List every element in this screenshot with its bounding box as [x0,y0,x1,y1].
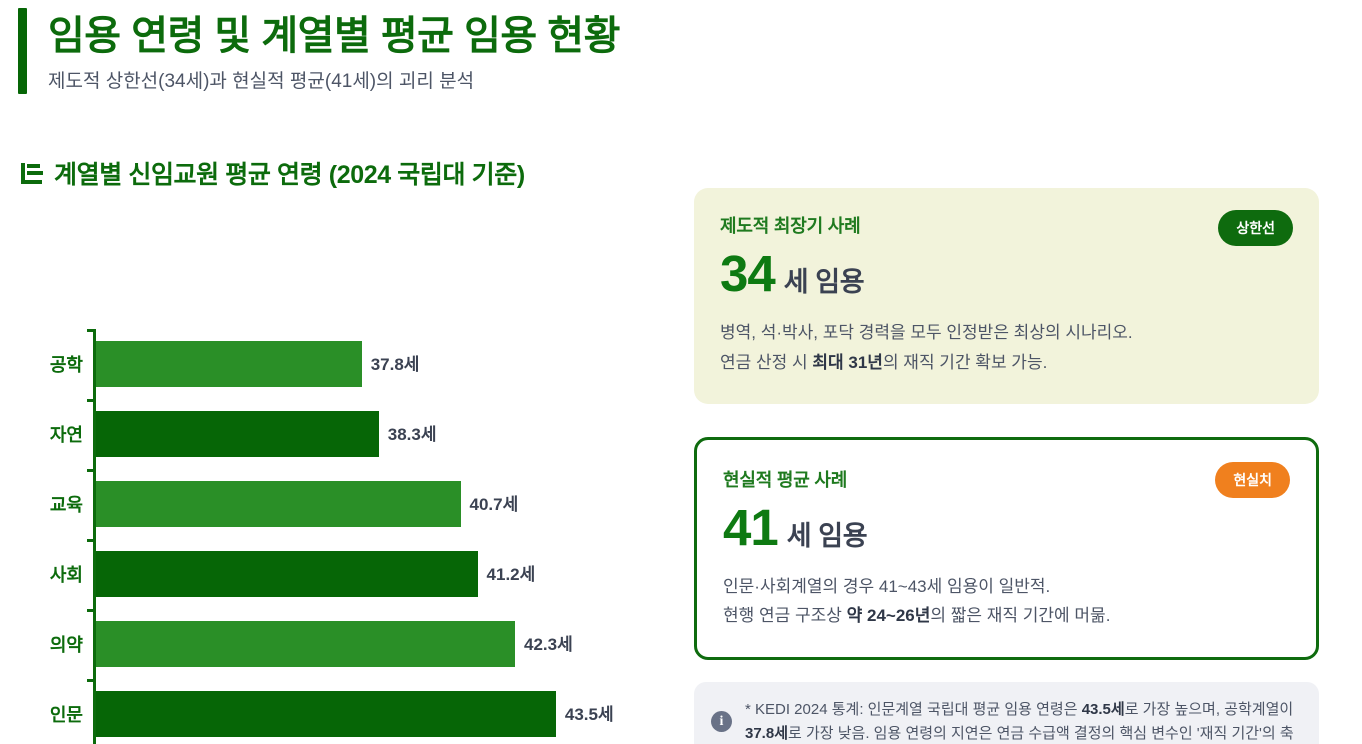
title-accent-bar [18,8,27,94]
card-realistic-average: 현실적 평균 사례 현실치 41 세 임용 인문·사회계열의 경우 41~43세… [694,437,1319,661]
footnote-bold-2: 37.8세 [745,725,788,742]
chart-heading-label: 계열별 신임교원 평균 연령 (2024 국립대 기준) [54,155,525,191]
footnote-bold-1: 43.5세 [1082,701,1125,718]
bar-category-label: 교육 [20,491,83,517]
y-axis-tick [87,679,96,682]
card-label: 제도적 최장기 사례 [720,212,1293,238]
footnote-part-3: 로 가장 낮음. 임용 연령의 지연은 연금 수급액 결정의 핵심 변수인 '재… [745,725,1294,744]
card-line-2-post: 의 짧은 재직 기간에 머묾. [930,606,1110,625]
bar-value-label: 40.7세 [470,490,519,515]
card-line-2-bold: 최대 31년 [812,353,883,372]
status-badge-reality[interactable]: 현실치 [1215,462,1290,498]
bar-category-label: 인문 [20,701,83,727]
y-axis-tick [87,539,96,542]
card-number: 41 [723,500,778,555]
bar-row: 자연38.3세 [20,399,660,469]
bar-category-label: 자연 [20,421,83,447]
card-unit: 세 임용 [784,260,864,299]
card-line-2-pre: 연금 산정 시 [720,353,812,372]
bar-fill[interactable] [96,551,478,597]
card-label: 현실적 평균 사례 [723,466,1290,492]
card-body: 인문·사회계열의 경우 41~43세 임용이 일반적. 현행 연금 구조상 약 … [723,572,1290,632]
bar-fill[interactable] [96,411,379,457]
card-line-1: 병역, 석·박사, 포닥 경력을 모두 인정받은 최상의 시나리오. [720,318,1293,348]
bar-fill[interactable] [96,481,461,527]
bar-row: 사회41.2세 [20,539,660,609]
bar-chart: 공학37.8세자연38.3세교육40.7세사회41.2세의약42.3세인문43.… [20,227,660,697]
header-text-group: 임용 연령 및 계열별 평균 임용 현황 제도적 상한선(34세)과 현실적 평… [48,8,620,94]
infographic-page: 임용 연령 및 계열별 평균 임용 현황 제도적 상한선(34세)과 현실적 평… [0,0,1362,744]
bar-value-label: 37.8세 [371,350,420,375]
card-body: 병역, 석·박사, 포닥 경력을 모두 인정받은 최상의 시나리오. 연금 산정… [720,318,1293,378]
y-axis-tick [87,399,96,402]
info-icon: i [711,711,732,732]
bar-value-label: 43.5세 [565,700,614,725]
bar-fill[interactable] [96,621,515,667]
card-line-2: 현행 연금 구조상 약 24~26년의 짧은 재직 기간에 머묾. [723,601,1290,631]
bar-track [96,551,660,597]
card-line-2: 연금 산정 시 최대 31년의 재직 기간 확보 가능. [720,348,1293,378]
footnote-part-1: * KEDI 2024 통계: 인문계열 국립대 평균 임용 연령은 [745,701,1082,718]
footnote-box: i * KEDI 2024 통계: 인문계열 국립대 평균 임용 연령은 43.… [694,682,1319,744]
page-title: 임용 연령 및 계열별 평균 임용 현황 [48,12,620,61]
chart-heading: 계열별 신임교원 평균 연령 (2024 국립대 기준) [20,155,660,191]
y-axis-tick [87,469,96,472]
bar-category-label: 의약 [20,631,83,657]
bar-category-label: 사회 [20,561,83,587]
card-institutional-max: 제도적 최장기 사례 상한선 34 세 임용 병역, 석·박사, 포닥 경력을 … [694,188,1319,404]
bar-fill[interactable] [96,341,362,387]
bar-row: 공학37.8세 [20,329,660,399]
bar-value-label: 38.3세 [388,420,437,445]
chart-panel: 계열별 신임교원 평균 연령 (2024 국립대 기준) 공학37.8세자연38… [20,155,660,725]
bar-track [96,411,660,457]
card-unit: 세 임용 [787,514,867,553]
y-axis-tick [87,609,96,612]
card-number: 34 [720,246,775,301]
bar-row: 교육40.7세 [20,469,660,539]
bar-category-label: 공학 [20,351,83,377]
card-line-1: 인문·사회계열의 경우 41~43세 임용이 일반적. [723,572,1290,602]
summary-column: 제도적 최장기 사례 상한선 34 세 임용 병역, 석·박사, 포닥 경력을 … [694,188,1319,744]
card-line-2-bold: 약 24~26년 [847,606,931,625]
bar-track [96,481,660,527]
bar-fill[interactable] [96,691,556,737]
card-line-2-pre: 현행 연금 구조상 [723,606,847,625]
footnote-text: * KEDI 2024 통계: 인문계열 국립대 평균 임용 연령은 43.5세… [745,698,1299,744]
bar-row: 인문43.5세 [20,679,660,744]
bar-row: 의약42.3세 [20,609,660,679]
bar-chart-icon [20,160,44,186]
status-badge-upper-limit[interactable]: 상한선 [1218,210,1293,246]
footnote-part-2: 로 가장 높으며, 공학계열이 [1125,701,1293,718]
bar-value-label: 41.2세 [487,560,536,585]
page-header: 임용 연령 및 계열별 평균 임용 현황 제도적 상한선(34세)과 현실적 평… [18,8,620,94]
card-figure: 41 세 임용 [723,500,1290,555]
page-subtitle: 제도적 상한선(34세)과 현실적 평균(41세)의 괴리 분석 [48,70,620,95]
card-line-2-post: 의 재직 기간 확보 가능. [883,353,1047,372]
card-figure: 34 세 임용 [720,246,1293,301]
bar-series: 공학37.8세자연38.3세교육40.7세사회41.2세의약42.3세인문43.… [20,329,660,744]
bar-track [96,621,660,667]
y-axis-tick [87,329,96,332]
bar-value-label: 42.3세 [524,630,573,655]
